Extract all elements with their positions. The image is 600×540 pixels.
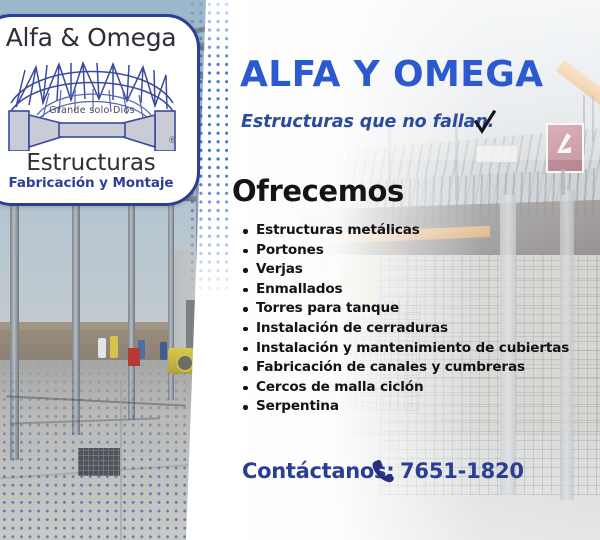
dot-pattern-bottom-left [0,352,186,540]
phone-icon[interactable] [370,458,396,484]
list-item: Enmallados [243,280,573,300]
list-item: Portones [243,241,573,261]
list-item: Verjas [243,260,573,280]
logo-motto: Grande solo Dios [49,105,135,116]
phone-number[interactable]: 7651-1820 [400,459,524,483]
h-beam-icon [9,111,175,151]
poster-canvas: Alfa & Omega [0,0,600,540]
logo-truss-beam-graphic: Grande solo Dios [3,53,181,151]
registered-mark: ® [169,135,176,145]
logo-tagline: Fabricación y Montaje [3,175,179,191]
arched-truss-icon [11,63,173,111]
services-list: Estructuras metálicas Portones Verjas En… [243,221,573,417]
logo-card: Alfa & Omega [0,14,200,206]
slogan: Estructuras que no fallan. [241,112,494,132]
list-item: Instalación y mantenimiento de cubiertas [243,339,573,359]
logo-inner: Alfa & Omega [3,17,197,203]
check-icon [474,110,496,136]
services-heading: Ofrecemos [232,174,404,208]
logo-title: Alfa & Omega [3,23,179,52]
headline: ALFA Y OMEGA [240,57,544,93]
list-item: Fabricación de canales y cumbreras [243,358,573,378]
logo-subtitle: Estructuras [3,150,179,176]
list-item: Cercos de malla ciclón [243,378,573,398]
list-item: Serpentina [243,397,573,417]
list-item: Instalación de cerraduras [243,319,573,339]
list-item: Torres para tanque [243,299,573,319]
list-item: Estructuras metálicas [243,221,573,241]
